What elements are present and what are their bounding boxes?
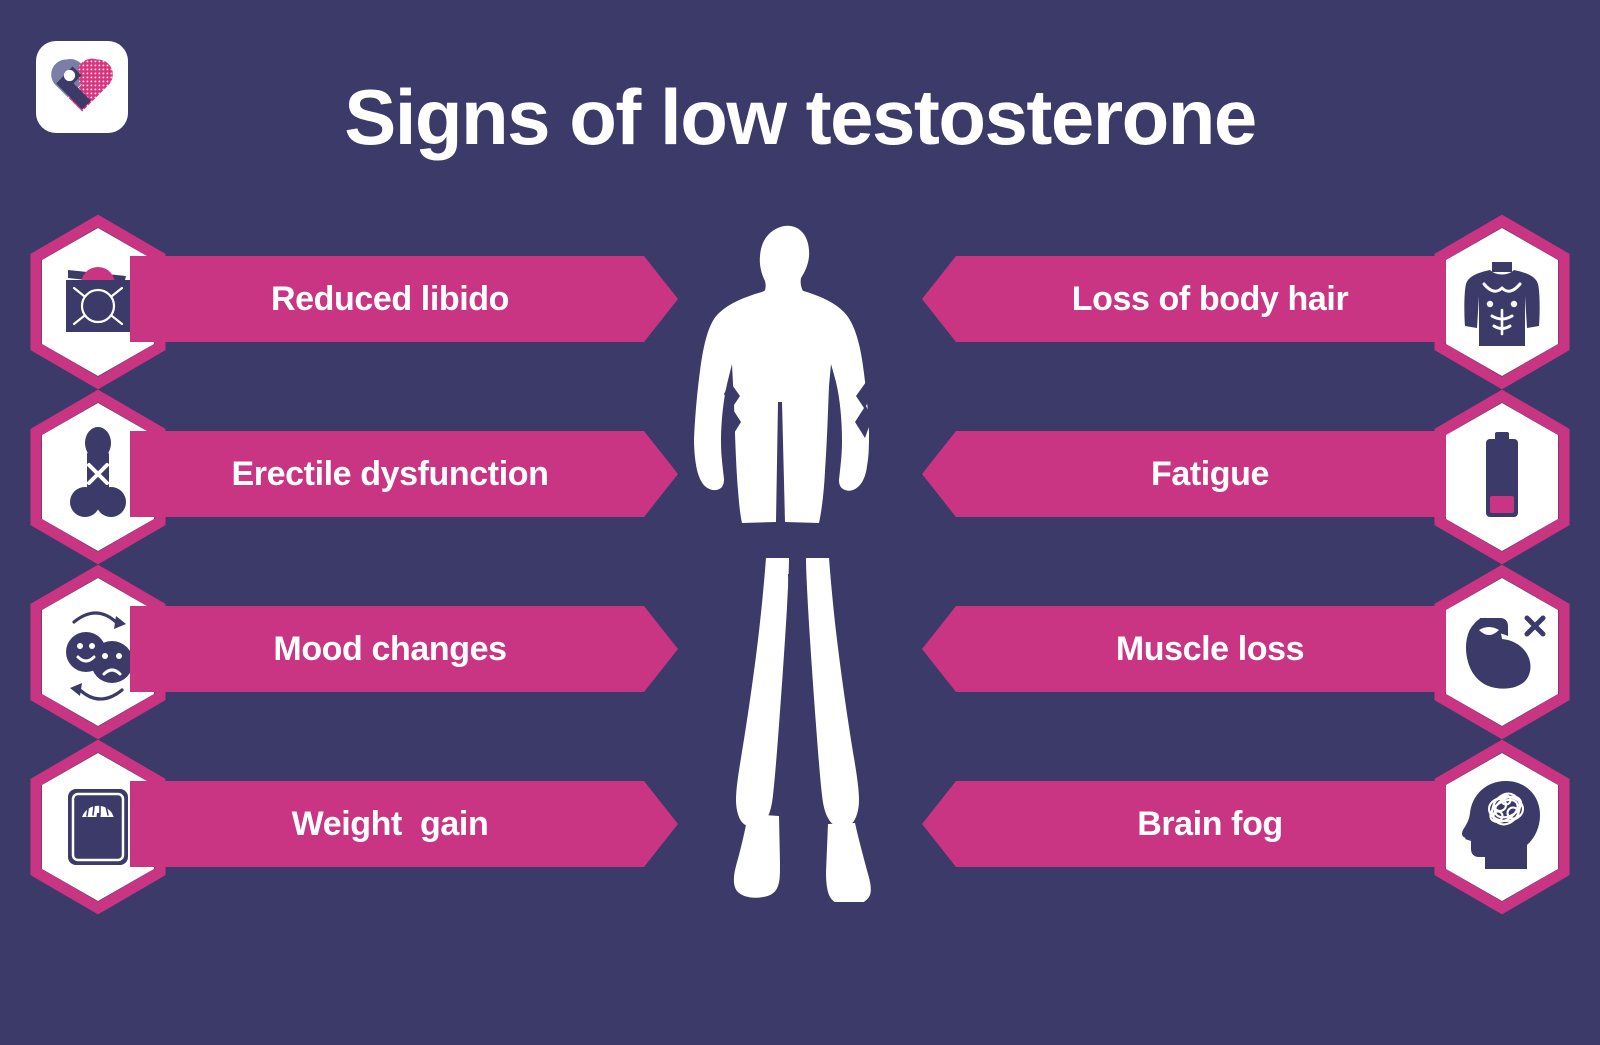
symptom-label: Muscle loss xyxy=(1116,632,1304,666)
symptom-row-fatigue[interactable]: Fatigue xyxy=(896,389,1576,565)
symptom-banner[interactable]: Fatigue xyxy=(922,431,1470,517)
condom-wrapper-icon xyxy=(66,267,130,332)
symptom-row-mood-changes[interactable]: Mood changes xyxy=(24,564,704,740)
symptom-badge xyxy=(1434,389,1570,565)
bathroom-scale-icon xyxy=(68,789,128,865)
symptom-row-brain-fog[interactable]: Brain fog xyxy=(896,739,1576,915)
symptom-row-reduced-libido[interactable]: Reduced libido xyxy=(24,214,704,390)
walking-man-silhouette xyxy=(670,222,930,902)
symptom-row-weight-gain[interactable]: Weight gain xyxy=(24,739,704,915)
low-battery-icon xyxy=(1486,432,1518,517)
symptom-banner[interactable]: Brain fog xyxy=(922,781,1470,867)
symptom-banner[interactable]: Loss of body hair xyxy=(922,256,1470,342)
symptom-row-muscle-loss[interactable]: Muscle loss xyxy=(896,564,1576,740)
symptom-banner[interactable]: Reduced libido xyxy=(130,256,678,342)
symptom-banner[interactable]: Erectile dysfunction xyxy=(130,431,678,517)
page-title: Signs of low testosterone xyxy=(0,78,1600,156)
symptom-badge xyxy=(1434,214,1570,390)
symptom-label: Brain fog xyxy=(1137,807,1283,841)
symptom-label: Loss of body hair xyxy=(1072,282,1349,316)
symptom-row-loss-of-body-hair[interactable]: Loss of body hair xyxy=(896,214,1576,390)
symptom-banner[interactable]: Mood changes xyxy=(130,606,678,692)
symptom-label: Reduced libido xyxy=(271,282,509,316)
symptom-label: Mood changes xyxy=(273,632,506,666)
symptom-label: Erectile dysfunction xyxy=(232,457,549,491)
symptom-badge xyxy=(1434,739,1570,915)
symptom-label: Fatigue xyxy=(1151,457,1269,491)
symptom-row-erectile-dysfunction[interactable]: Erectile dysfunction xyxy=(24,389,704,565)
symptom-label: Weight gain xyxy=(292,807,489,841)
symptom-banner[interactable]: Muscle loss xyxy=(922,606,1470,692)
symptom-banner[interactable]: Weight gain xyxy=(130,781,678,867)
symptom-badge xyxy=(1434,564,1570,740)
